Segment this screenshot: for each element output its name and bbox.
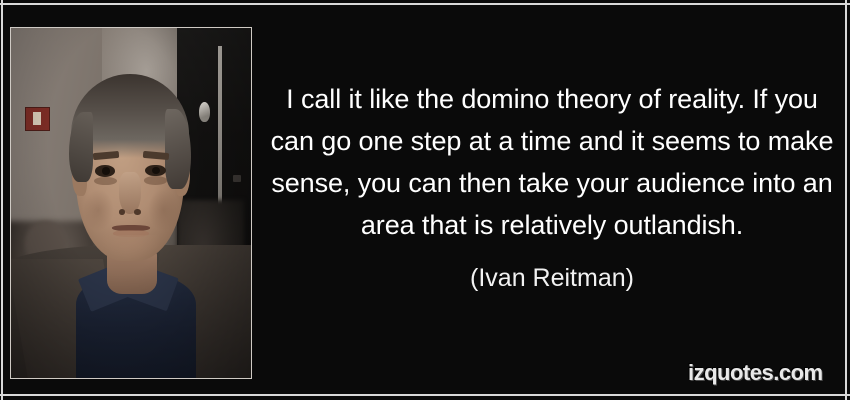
quote-attribution: (Ivan Reitman) [262, 263, 842, 293]
card-border-left [1, 0, 3, 400]
quote-block: I call it like the domino theory of real… [262, 78, 842, 246]
photo-vignette [11, 28, 251, 378]
card-border-top [0, 3, 850, 5]
site-watermark: izquotes.com [688, 360, 823, 386]
portrait-photo-canvas [11, 28, 251, 378]
portrait-photo [10, 27, 252, 379]
quote-card: I call it like the domino theory of real… [0, 0, 850, 400]
card-border-right [845, 0, 847, 400]
card-border-bottom [0, 394, 850, 396]
quote-text: I call it like the domino theory of real… [262, 78, 842, 246]
